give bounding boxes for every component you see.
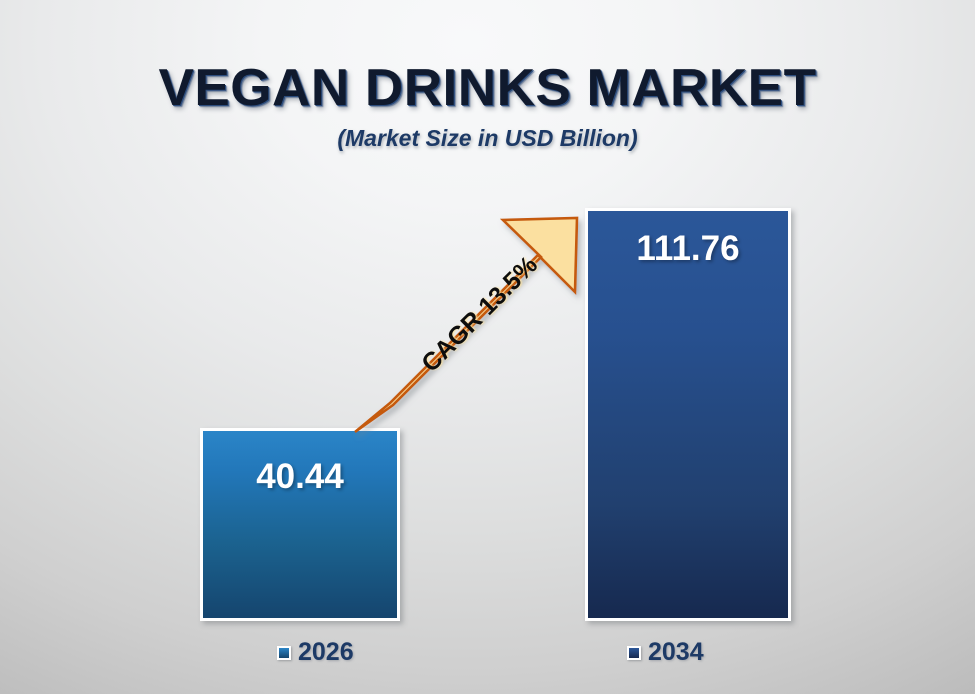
bar-2026: 40.44 — [200, 428, 400, 621]
cagr-annotation-label: CAGR 13.5% — [399, 234, 561, 396]
legend-swatch-2034 — [627, 646, 641, 660]
bar-2034: 111.76 — [585, 208, 791, 621]
legend-swatch-2026 — [277, 646, 291, 660]
legend-item-2034[interactable]: 2034 — [627, 640, 704, 665]
title-block: VEGAN DRINKS MARKET (Market Size in USD … — [0, 62, 975, 152]
chart-canvas: VEGAN DRINKS MARKET (Market Size in USD … — [0, 0, 975, 694]
bar-value-2034: 111.76 — [588, 229, 788, 269]
legend-item-2026[interactable]: 2026 — [277, 640, 354, 665]
chart-subtitle: (Market Size in USD Billion) — [0, 125, 975, 152]
legend-label-2034: 2034 — [648, 640, 704, 665]
page-title: VEGAN DRINKS MARKET — [0, 62, 975, 114]
legend-label-2026: 2026 — [298, 640, 354, 665]
bar-value-2026: 40.44 — [203, 457, 397, 497]
